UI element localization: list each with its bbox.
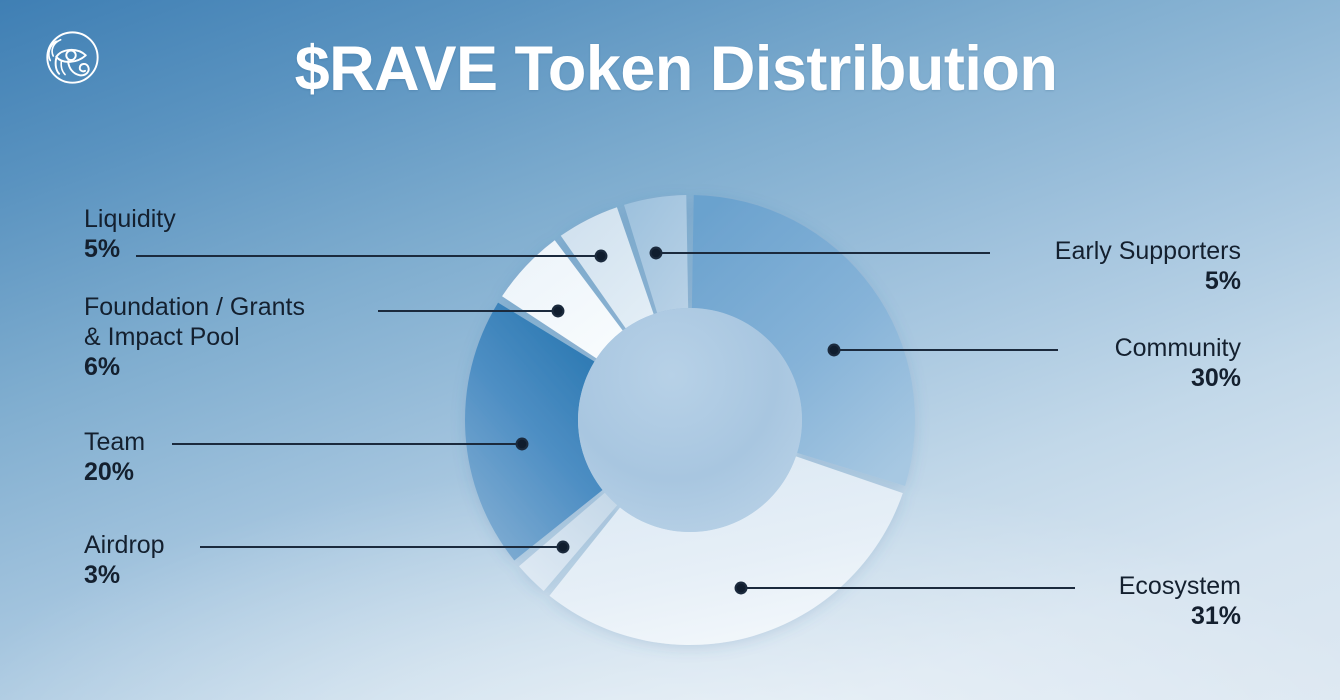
- callout-early-supporters-percent: 5%: [1055, 266, 1241, 296]
- callout-foundation: Foundation / Grants & Impact Pool 6%: [84, 292, 305, 382]
- callout-foundation-percent: 6%: [84, 352, 305, 382]
- donut-center-hole: [578, 308, 802, 532]
- callout-community-name: Community: [1115, 334, 1241, 362]
- callout-early-supporters-name: Early Supporters: [1055, 237, 1241, 265]
- callout-liquidity: Liquidity 5%: [84, 204, 176, 264]
- callout-early-supporters: Early Supporters 5%: [1055, 236, 1241, 296]
- callout-ecosystem-name: Ecosystem: [1119, 572, 1241, 600]
- callout-team-percent: 20%: [84, 457, 145, 487]
- callout-airdrop: Airdrop 3%: [84, 530, 165, 590]
- leader-dot-airdrop: [558, 542, 569, 553]
- leader-dot-foundation: [553, 306, 564, 317]
- callout-foundation-name-line2: & Impact Pool: [84, 323, 240, 351]
- callout-airdrop-name: Airdrop: [84, 531, 165, 559]
- leader-dot-early: [651, 248, 662, 259]
- callout-ecosystem: Ecosystem 31%: [1119, 571, 1241, 631]
- leader-dot-community: [829, 345, 840, 356]
- callout-community: Community 30%: [1115, 333, 1241, 393]
- callout-liquidity-name: Liquidity: [84, 205, 176, 233]
- callout-airdrop-percent: 3%: [84, 560, 165, 590]
- callout-foundation-name-line1: Foundation / Grants: [84, 293, 305, 321]
- leader-dot-liquidity: [596, 251, 607, 262]
- callout-ecosystem-percent: 31%: [1119, 601, 1241, 631]
- callout-team-name: Team: [84, 428, 145, 456]
- leader-dot-team: [517, 439, 528, 450]
- callout-team: Team 20%: [84, 427, 145, 487]
- callout-community-percent: 30%: [1115, 363, 1241, 393]
- leader-dot-ecosystem: [736, 583, 747, 594]
- callout-liquidity-percent: 5%: [84, 234, 176, 264]
